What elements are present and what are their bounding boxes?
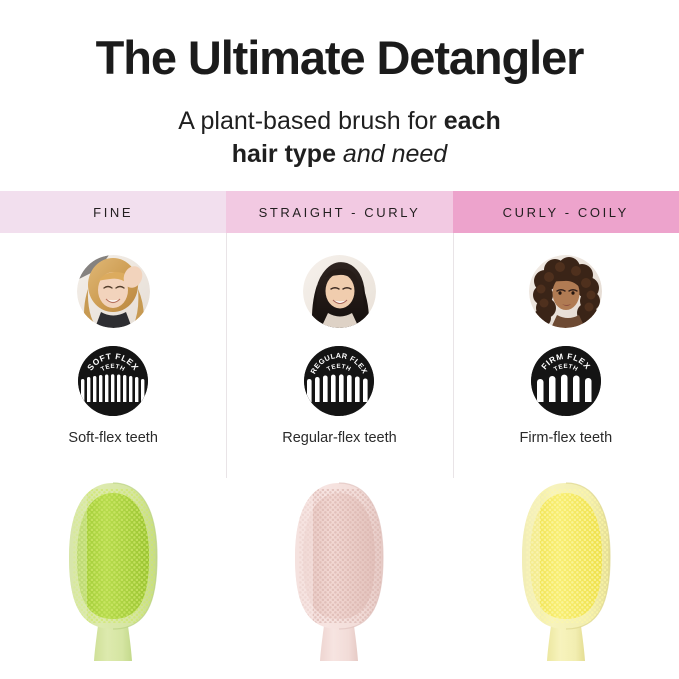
header-cell-fine: FINE (0, 191, 226, 233)
header-cell-straight-curly: STRAIGHT - CURLY (226, 191, 452, 233)
page-subtitle: A plant-based brush for each hair type a… (0, 105, 679, 170)
comparison-columns: SOFT FLEX TEETH Soft-flex teeth (0, 233, 679, 679)
subtitle-line-2-strong: hair type (232, 140, 336, 168)
column-straight-curly: REGULAR FLEX TEETH Regular-flex teeth (226, 233, 452, 679)
brush-green (53, 461, 173, 661)
brush-pink (279, 461, 399, 661)
subtitle-line-2-italic: and need (336, 140, 447, 168)
subtitle-line-2: hair type and need (0, 138, 679, 171)
badge-soft-flex-teeth: SOFT FLEX TEETH (78, 346, 148, 416)
page-title: The Ultimate Detangler (0, 33, 679, 83)
subtitle-line-1-strong: each (444, 107, 501, 135)
caption-firm-flex: Firm-flex teeth (519, 430, 612, 447)
subtitle-line-1: A plant-based brush for each (0, 105, 679, 138)
portrait-straight-hair-woman (303, 255, 376, 328)
infographic-page: The Ultimate Detangler A plant-based bru… (0, 0, 679, 679)
brush-yellow (506, 461, 626, 661)
hair-type-header-bar: FINE STRAIGHT - CURLY CURLY - COILY (0, 191, 679, 233)
column-curly-coily: FIRM FLEX TEETH Firm-flex teeth (453, 233, 679, 679)
headline-block: The Ultimate Detangler A plant-based bru… (0, 0, 679, 191)
badge-regular-flex-teeth: REGULAR FLEX TEETH (304, 346, 374, 416)
subtitle-line-1-plain: A plant-based brush for (178, 107, 443, 135)
portrait-curly-hair-woman (529, 255, 602, 328)
header-cell-curly-coily: CURLY - COILY (453, 191, 679, 233)
portrait-blonde-woman (77, 255, 150, 328)
column-fine: SOFT FLEX TEETH Soft-flex teeth (0, 233, 226, 679)
caption-regular-flex: Regular-flex teeth (282, 430, 396, 447)
caption-soft-flex: Soft-flex teeth (68, 430, 157, 447)
badge-firm-flex-teeth: FIRM FLEX TEETH (531, 346, 601, 416)
